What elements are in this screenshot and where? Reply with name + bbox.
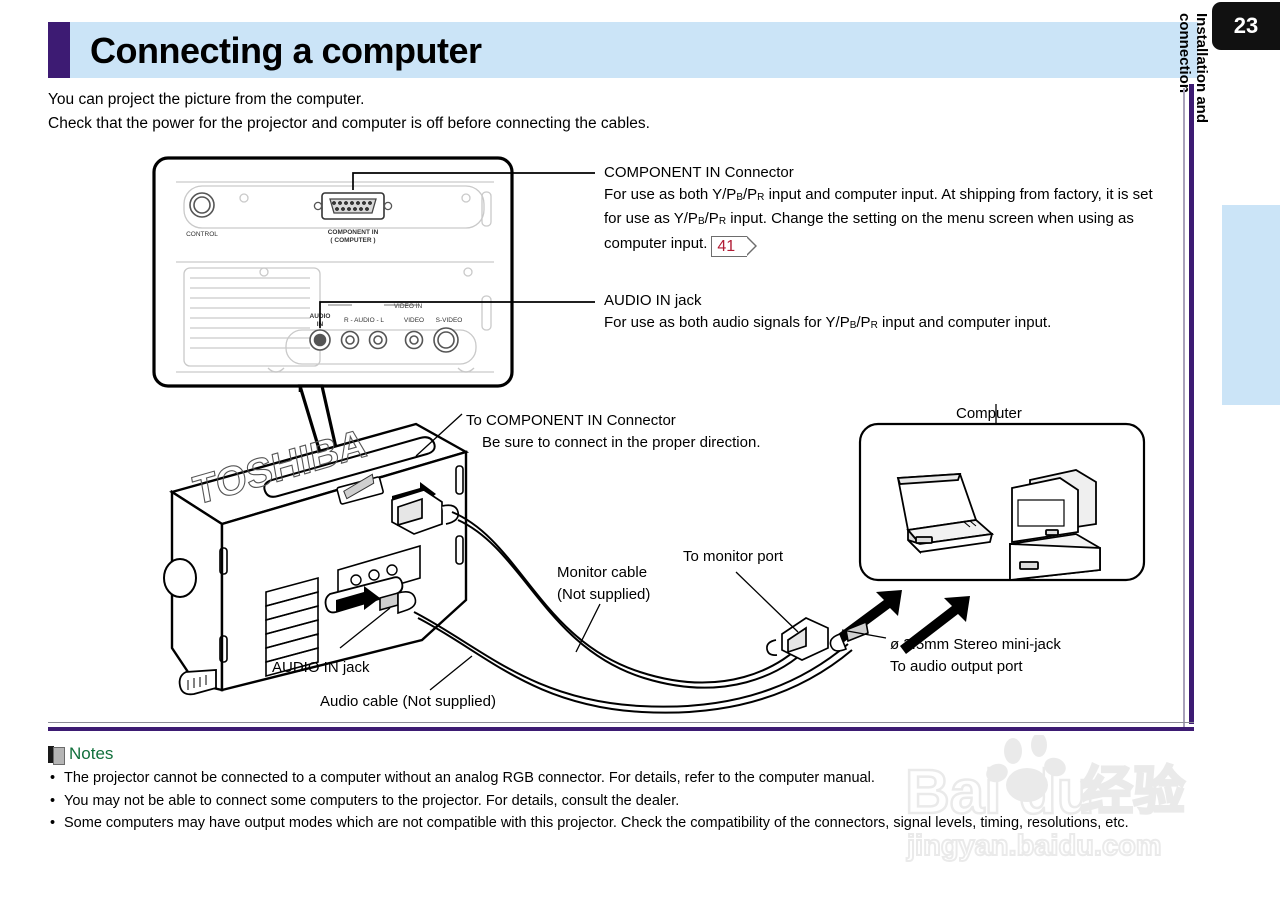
label-to-monitor-port: To monitor port bbox=[683, 546, 783, 568]
projector-brand-label: TOSHIBA bbox=[190, 421, 370, 514]
label-stereo-mini-jack: ø 3.5mm Stereo mini-jack To audio output… bbox=[890, 634, 1150, 677]
note-text: You may not be able to connect some comp… bbox=[64, 791, 1178, 813]
label-video: VIDEO bbox=[404, 317, 424, 324]
label-audio-in-jack: AUDIO IN jack bbox=[272, 657, 370, 679]
label-computer-box: Computer bbox=[956, 403, 1022, 425]
audio-cable-plug-projector bbox=[380, 592, 416, 613]
label-monitor-cable-line2: (Not supplied) bbox=[557, 584, 727, 606]
intro-text: You can project the picture from the com… bbox=[48, 88, 1148, 136]
control-port bbox=[190, 193, 214, 217]
monitor-cable-plug-computer bbox=[767, 618, 828, 660]
monitor-cable-plug-projector bbox=[392, 490, 458, 534]
intro-line-1: You can project the picture from the com… bbox=[48, 88, 1148, 112]
manual-page: Connecting a computer 23 Installation an… bbox=[0, 0, 1280, 906]
page-reference-chip[interactable]: 41 bbox=[711, 236, 747, 257]
label-audio-cable: Audio cable (Not supplied) bbox=[320, 691, 496, 713]
label-stereo-mini-jack-line1: ø 3.5mm Stereo mini-jack bbox=[890, 634, 1150, 656]
page-title: Connecting a computer bbox=[90, 26, 482, 76]
list-item: • The projector cannot be connected to a… bbox=[48, 768, 1178, 790]
bullet-icon: • bbox=[48, 768, 57, 790]
callout-to-component-in-line1: To COMPONENT IN Connector bbox=[466, 410, 846, 432]
header-accent-bar bbox=[48, 22, 70, 78]
callout-leader-lines bbox=[320, 173, 595, 328]
computer-group-box bbox=[860, 424, 1144, 580]
page-number: 23 bbox=[1234, 13, 1258, 39]
laptop-illustration bbox=[898, 474, 992, 552]
footer-rule-thick bbox=[48, 727, 1194, 731]
projector-component-in-socket bbox=[337, 474, 384, 504]
list-item: • Some computers may have output modes w… bbox=[48, 813, 1178, 835]
intro-line-2: Check that the power for the projector a… bbox=[48, 112, 1148, 136]
label-stereo-mini-jack-line2: To audio output port bbox=[890, 656, 1150, 678]
footer-rule-thin bbox=[48, 722, 1194, 723]
rear-jacks-row bbox=[310, 328, 458, 352]
callout-to-component-in: To COMPONENT IN Connector Be sure to con… bbox=[466, 410, 846, 453]
notes-title: Notes bbox=[69, 744, 113, 764]
label-video-in: VIDEO IN bbox=[394, 303, 423, 310]
notes-header: Notes bbox=[48, 744, 113, 764]
callout-component-in-title: COMPONENT IN Connector bbox=[604, 162, 1164, 184]
desktop-illustration bbox=[1010, 470, 1100, 580]
right-rule-shadow bbox=[1183, 88, 1185, 728]
callout-component-in: COMPONENT IN Connector For use as both Y… bbox=[604, 162, 1164, 257]
callout-audio-in-body: For use as both audio signals for Y/PB/P… bbox=[604, 314, 1051, 331]
section-tab bbox=[1222, 205, 1280, 405]
zoom-callout-tail bbox=[300, 386, 346, 492]
projector-illustration bbox=[164, 424, 466, 694]
label-component-in-2: ( COMPUTER ) bbox=[330, 237, 375, 244]
label-audio-in-1: AUDIO bbox=[310, 313, 331, 320]
list-item: • You may not be able to connect some co… bbox=[48, 791, 1178, 813]
audio-cable-plug-computer bbox=[830, 622, 868, 651]
callout-audio-in-title: AUDIO IN jack bbox=[604, 290, 1164, 312]
note-page-icon bbox=[48, 746, 63, 763]
label-r-audio-l: R - AUDIO - L bbox=[344, 317, 384, 324]
component-in-port bbox=[314, 193, 391, 219]
label-s-video: S-VIDEO bbox=[436, 317, 463, 324]
callout-audio-in: AUDIO IN jack For use as both audio sign… bbox=[604, 290, 1164, 336]
callout-component-in-body: For use as both Y/PB/PR input and comput… bbox=[604, 186, 1153, 252]
rear-panel-illustration bbox=[154, 158, 512, 392]
callout-to-component-in-line2: Be sure to connect in the proper directi… bbox=[466, 432, 846, 454]
label-control: CONTROL bbox=[186, 231, 218, 238]
notes-list: • The projector cannot be connected to a… bbox=[48, 768, 1178, 836]
note-text: Some computers may have output modes whi… bbox=[64, 813, 1178, 835]
label-audio-in-2: IN bbox=[317, 321, 324, 328]
rear-panel-labels: CONTROL COMPONENT IN ( COMPUTER ) AUDIO … bbox=[186, 229, 462, 328]
label-component-in-1: COMPONENT IN bbox=[328, 229, 379, 236]
bullet-icon: • bbox=[48, 813, 57, 835]
right-vertical-rule bbox=[1189, 84, 1194, 724]
bullet-icon: • bbox=[48, 791, 57, 813]
page-number-tab: 23 bbox=[1212, 2, 1280, 50]
label-monitor-cable: Monitor cable (Not supplied) bbox=[557, 562, 727, 605]
note-text: The projector cannot be connected to a c… bbox=[64, 768, 1178, 790]
